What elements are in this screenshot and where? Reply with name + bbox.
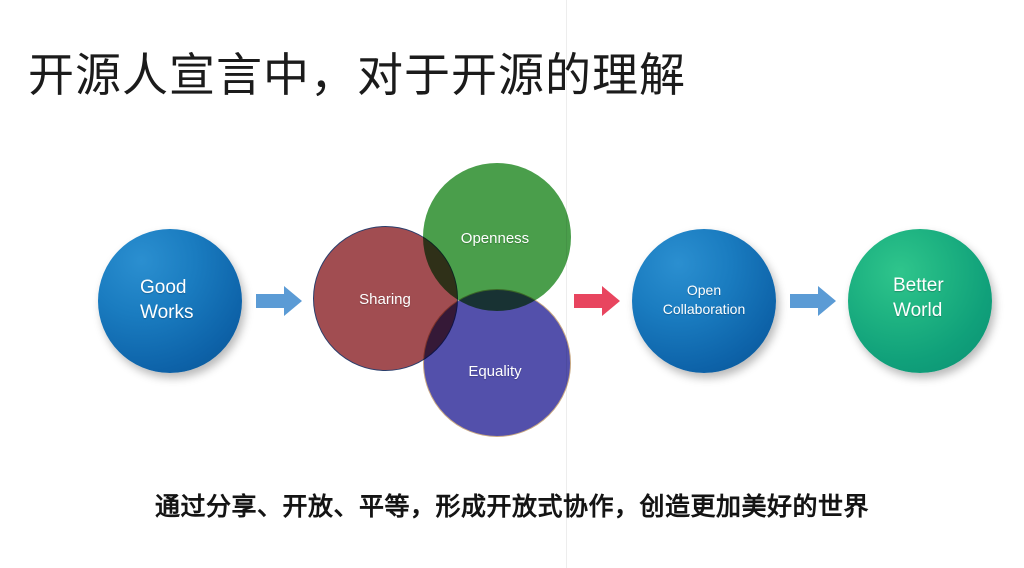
node-good-works[interactable] [98,229,242,373]
arrow-open-collaboration-to-better-world [790,285,836,322]
arrow-venn-to-open-collaboration [574,285,620,322]
node-open-collaboration[interactable] [632,229,776,373]
process-flow-diagram: Good Works Sharing Openness Equality Ope… [0,0,1024,568]
node-equality[interactable] [423,289,571,437]
slide-caption: 通过分享、开放、平等，形成开放式协作，创造更加美好的世界 [0,487,1024,523]
node-better-world[interactable] [848,229,992,373]
arrow-good-works-to-venn [256,285,302,322]
